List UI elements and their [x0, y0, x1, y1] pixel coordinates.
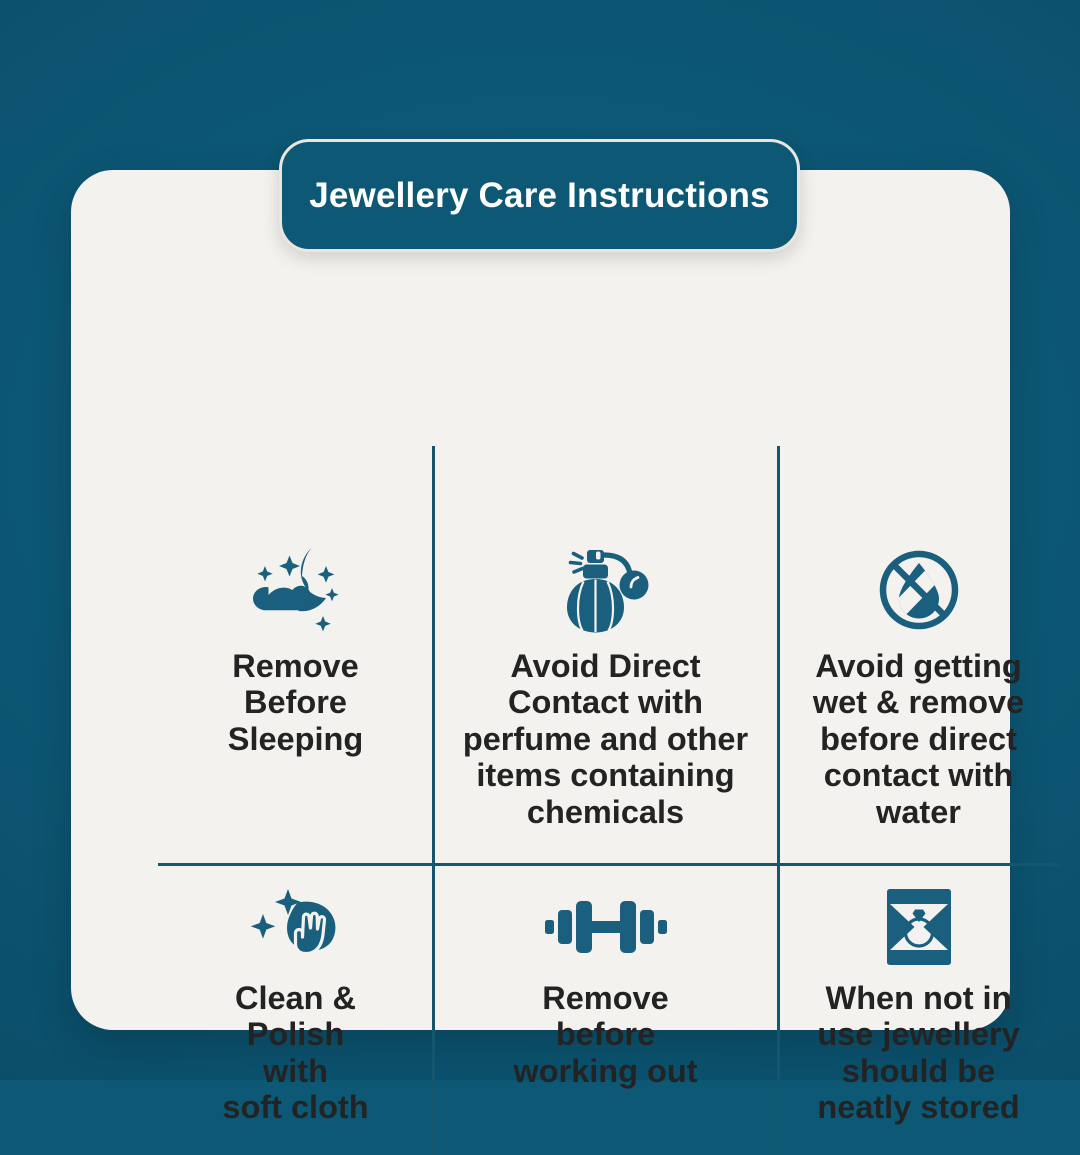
caption-line: wet & remove	[813, 684, 1024, 720]
caption-line: Avoid Direct	[510, 648, 700, 684]
hand-polish-cloth-icon	[250, 888, 342, 966]
caption-line: use jewellery	[817, 1016, 1019, 1052]
poster-canvas: Remove Before Sleeping	[0, 0, 1080, 1080]
tip-cell-remove-working-out: Remove before working out	[433, 864, 778, 1155]
caption-line: When not in	[826, 980, 1012, 1016]
ring-box-icon	[879, 888, 959, 966]
tip-cell-avoid-perfume: Avoid Direct Contact with perfume and ot…	[433, 446, 778, 864]
tip-caption: Avoid getting wet & remove before direct…	[813, 648, 1024, 830]
tip-caption: Remove Before Sleeping	[228, 648, 363, 757]
caption-line: Remove	[542, 980, 668, 1016]
tip-cell-clean-polish: Clean & Polish with soft cloth	[158, 864, 433, 1155]
caption-line: Before	[244, 684, 347, 720]
tip-caption: When not in use jewellery should be neat…	[817, 980, 1019, 1126]
tips-grid: Remove Before Sleeping	[158, 446, 1059, 1155]
tip-caption: Clean & Polish with soft cloth	[222, 980, 368, 1126]
page-title: Jewellery Care Instructions	[309, 176, 770, 216]
caption-line: perfume and other	[463, 721, 748, 757]
caption-line: Contact with	[508, 684, 703, 720]
dumbbell-icon	[545, 888, 667, 966]
caption-line: neatly stored	[817, 1089, 1019, 1125]
instructions-card: Remove Before Sleeping	[71, 170, 1010, 1030]
caption-line: Clean &	[235, 980, 356, 1016]
caption-line: working out	[513, 1053, 697, 1089]
caption-line: should be	[842, 1053, 995, 1089]
moon-cloud-stars-icon	[244, 542, 348, 638]
caption-line: Polish	[247, 1016, 345, 1052]
caption-line: Avoid getting	[815, 648, 1021, 684]
perfume-bottle-icon	[554, 542, 658, 638]
title-badge: Jewellery Care Instructions	[279, 139, 800, 252]
caption-line: soft cloth	[222, 1089, 368, 1125]
tip-cell-remove-before-sleeping: Remove Before Sleeping	[158, 446, 433, 864]
caption-line: items containing	[476, 757, 734, 793]
tip-cell-store-neatly: When not in use jewellery should be neat…	[778, 864, 1059, 1155]
caption-line: contact with	[824, 757, 1014, 793]
tip-cell-avoid-water: Avoid getting wet & remove before direct…	[778, 446, 1059, 864]
caption-line: Remove	[232, 648, 358, 684]
no-water-droplet-icon	[875, 542, 963, 638]
tip-caption: Remove before working out	[513, 980, 697, 1089]
caption-line: before	[556, 1016, 655, 1052]
caption-line: with	[263, 1053, 328, 1089]
tip-caption: Avoid Direct Contact with perfume and ot…	[463, 648, 748, 830]
caption-line: Sleeping	[228, 721, 363, 757]
caption-line: before direct	[820, 721, 1017, 757]
caption-line: chemicals	[527, 794, 684, 830]
caption-line: water	[876, 794, 961, 830]
